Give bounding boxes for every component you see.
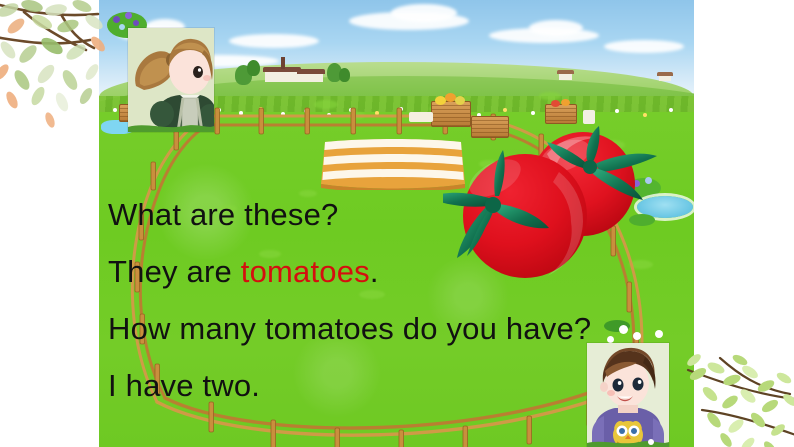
girl-illustration xyxy=(128,28,214,132)
farmhouse xyxy=(299,73,323,82)
dialogue-text-block: What are these? They are tomatoes. How m… xyxy=(108,186,591,414)
farmhouse xyxy=(265,71,299,82)
far-barn xyxy=(559,73,572,80)
produce-item xyxy=(455,96,465,105)
tree-icon xyxy=(247,60,260,76)
daisy xyxy=(619,325,628,334)
dialogue-line-3-pre: How many tomatoes do you have? xyxy=(108,311,591,346)
crate-slats xyxy=(432,102,470,126)
dialogue-line-2-pre: They are xyxy=(108,254,241,289)
flower xyxy=(119,24,125,30)
farmhouse-roof xyxy=(297,69,325,74)
tree-icon xyxy=(339,68,350,82)
crate-slats xyxy=(546,105,576,123)
daisy xyxy=(633,332,641,340)
dialogue-line-2-highlight: tomatoes xyxy=(241,254,370,289)
wooden-crate xyxy=(545,104,577,124)
leafy-branch-icon xyxy=(680,348,794,447)
dialogue-line-2: They are tomatoes. xyxy=(108,243,591,300)
boy-illustration xyxy=(587,343,669,447)
flower xyxy=(125,12,132,19)
far-barn-roof xyxy=(557,70,574,74)
dialogue-line-1-pre: What are these? xyxy=(108,197,338,232)
dialogue-line-1: What are these? xyxy=(108,186,591,243)
girl-photo xyxy=(128,28,214,132)
milk-can xyxy=(583,110,595,124)
daisy xyxy=(655,330,663,338)
flower xyxy=(113,16,120,23)
bottom-right-leaf-decoration-panel xyxy=(694,0,794,447)
cloud xyxy=(391,4,457,22)
produce-item xyxy=(561,99,570,106)
produce-item xyxy=(551,100,560,107)
dialogue-line-3: How many tomatoes do you have? xyxy=(108,300,591,357)
daisy xyxy=(607,336,614,343)
boy-photo xyxy=(587,343,669,447)
top-left-leaf-decoration-panel xyxy=(0,0,99,447)
church-spire xyxy=(281,57,285,69)
dialogue-line-2-post: . xyxy=(370,254,379,289)
paper-sack xyxy=(409,112,433,122)
cloud xyxy=(604,40,684,53)
produce-crate xyxy=(431,101,471,127)
cloud xyxy=(229,34,319,48)
cloud xyxy=(529,20,583,36)
dialogue-line-4-pre: I have two. xyxy=(108,368,260,403)
far-barn-roof xyxy=(657,72,673,76)
dialogue-line-4: I have two. xyxy=(108,357,591,414)
slide-canvas: What are these? They are tomatoes. How m… xyxy=(0,0,794,447)
leafy-branch-icon xyxy=(0,0,112,136)
flower xyxy=(133,20,139,26)
